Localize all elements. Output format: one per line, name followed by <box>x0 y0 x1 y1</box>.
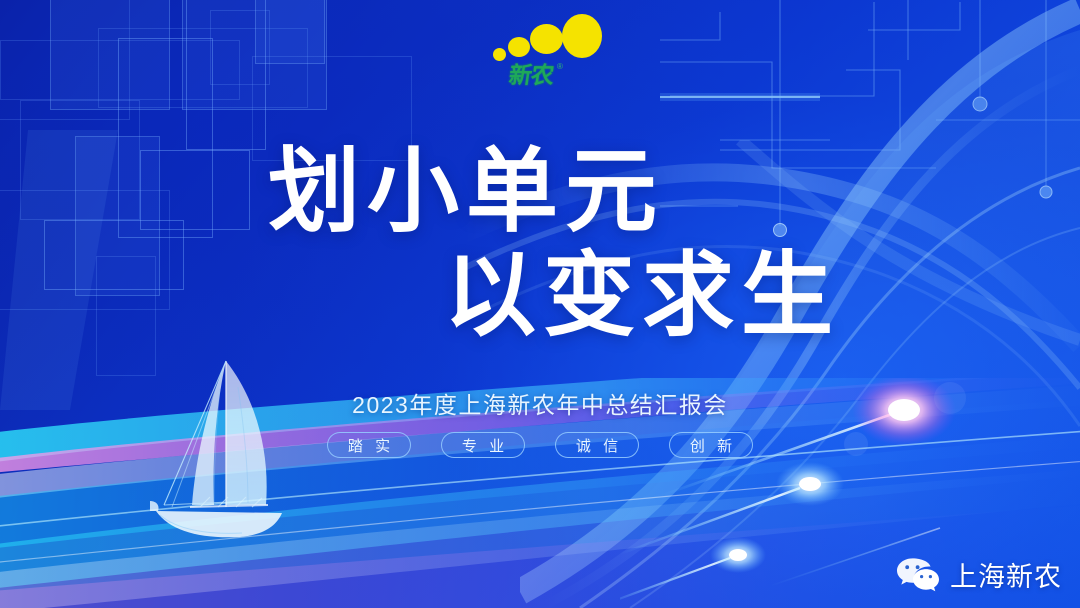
value-tags: 踏 实 专 业 诚 信 创 新 <box>0 432 1080 458</box>
event-poster: 新农 ® 划小单元 以变求生 2023年度上海新农年中总结汇报会 踏 实 专 业… <box>0 0 1080 608</box>
poster-subtitle: 2023年度上海新农年中总结汇报会 <box>0 386 1080 420</box>
wechat-account-name: 上海新农 <box>950 555 1062 594</box>
logo-wordmark: 新农 <box>507 64 554 87</box>
tag-chengxin: 诚 信 <box>555 432 639 458</box>
trademark-symbol: ® <box>557 62 563 71</box>
logo-dot-3 <box>530 24 563 54</box>
logo-dot-2 <box>508 37 530 57</box>
title-line-2: 以变求生 <box>444 244 1080 348</box>
logo-dot-4 <box>562 14 602 58</box>
wechat-icon <box>895 556 941 594</box>
wechat-footer: 上海新农 <box>895 555 1062 594</box>
poster-title: 划小单元 以变求生 <box>0 140 1080 348</box>
tag-zhuanye: 专 业 <box>441 432 525 458</box>
brand-logo: 新农 ® <box>489 14 599 100</box>
tag-tashi: 踏 实 <box>327 432 411 458</box>
title-line-1: 划小单元 <box>268 140 1080 244</box>
logo-dot-1 <box>493 48 506 61</box>
tag-chuangxin: 创 新 <box>669 432 753 458</box>
